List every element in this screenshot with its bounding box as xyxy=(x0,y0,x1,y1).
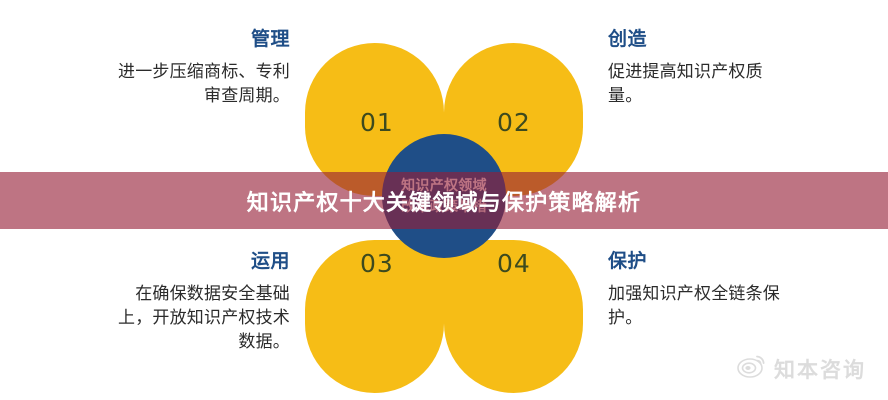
title-banner: 知识产权十大关键领域与保护策略解析 xyxy=(0,172,888,229)
quadrant-title-protection: 保护 xyxy=(608,252,794,273)
quadrant-top-left: 管理 进一步压缩商标、专利审查周期。 xyxy=(104,30,290,108)
quadrant-body-creation: 促进提高知识产权质量。 xyxy=(608,60,794,108)
quadrant-body-management: 进一步压缩商标、专利审查周期。 xyxy=(104,60,290,108)
banner-title-text: 知识产权十大关键领域与保护策略解析 xyxy=(247,185,641,217)
petal-number-04: 04 xyxy=(497,249,531,278)
infographic-canvas: 01 02 03 04 知识产权领域 改革政策举措 管理 进一步压缩商标、专利审… xyxy=(0,0,888,400)
weibo-eye-icon xyxy=(737,353,767,384)
quadrant-title-application: 运用 xyxy=(104,252,290,273)
quadrant-title-creation: 创造 xyxy=(608,30,794,51)
quadrant-bottom-right: 保护 加强知识产权全链条保护。 xyxy=(608,252,794,330)
petal-number-03: 03 xyxy=(360,249,394,278)
watermark: 知本咨询 xyxy=(737,353,866,384)
quadrant-title-management: 管理 xyxy=(104,30,290,51)
petal-number-01: 01 xyxy=(360,108,394,137)
quadrant-top-right: 创造 促进提高知识产权质量。 xyxy=(608,30,794,108)
watermark-text: 知本咨询 xyxy=(774,354,866,384)
quadrant-body-application: 在确保数据安全基础上，开放知识产权技术数据。 xyxy=(104,282,290,354)
quadrant-body-protection: 加强知识产权全链条保护。 xyxy=(608,282,794,330)
quadrant-bottom-left: 运用 在确保数据安全基础上，开放知识产权技术数据。 xyxy=(104,252,290,354)
petal-number-02: 02 xyxy=(497,108,531,137)
